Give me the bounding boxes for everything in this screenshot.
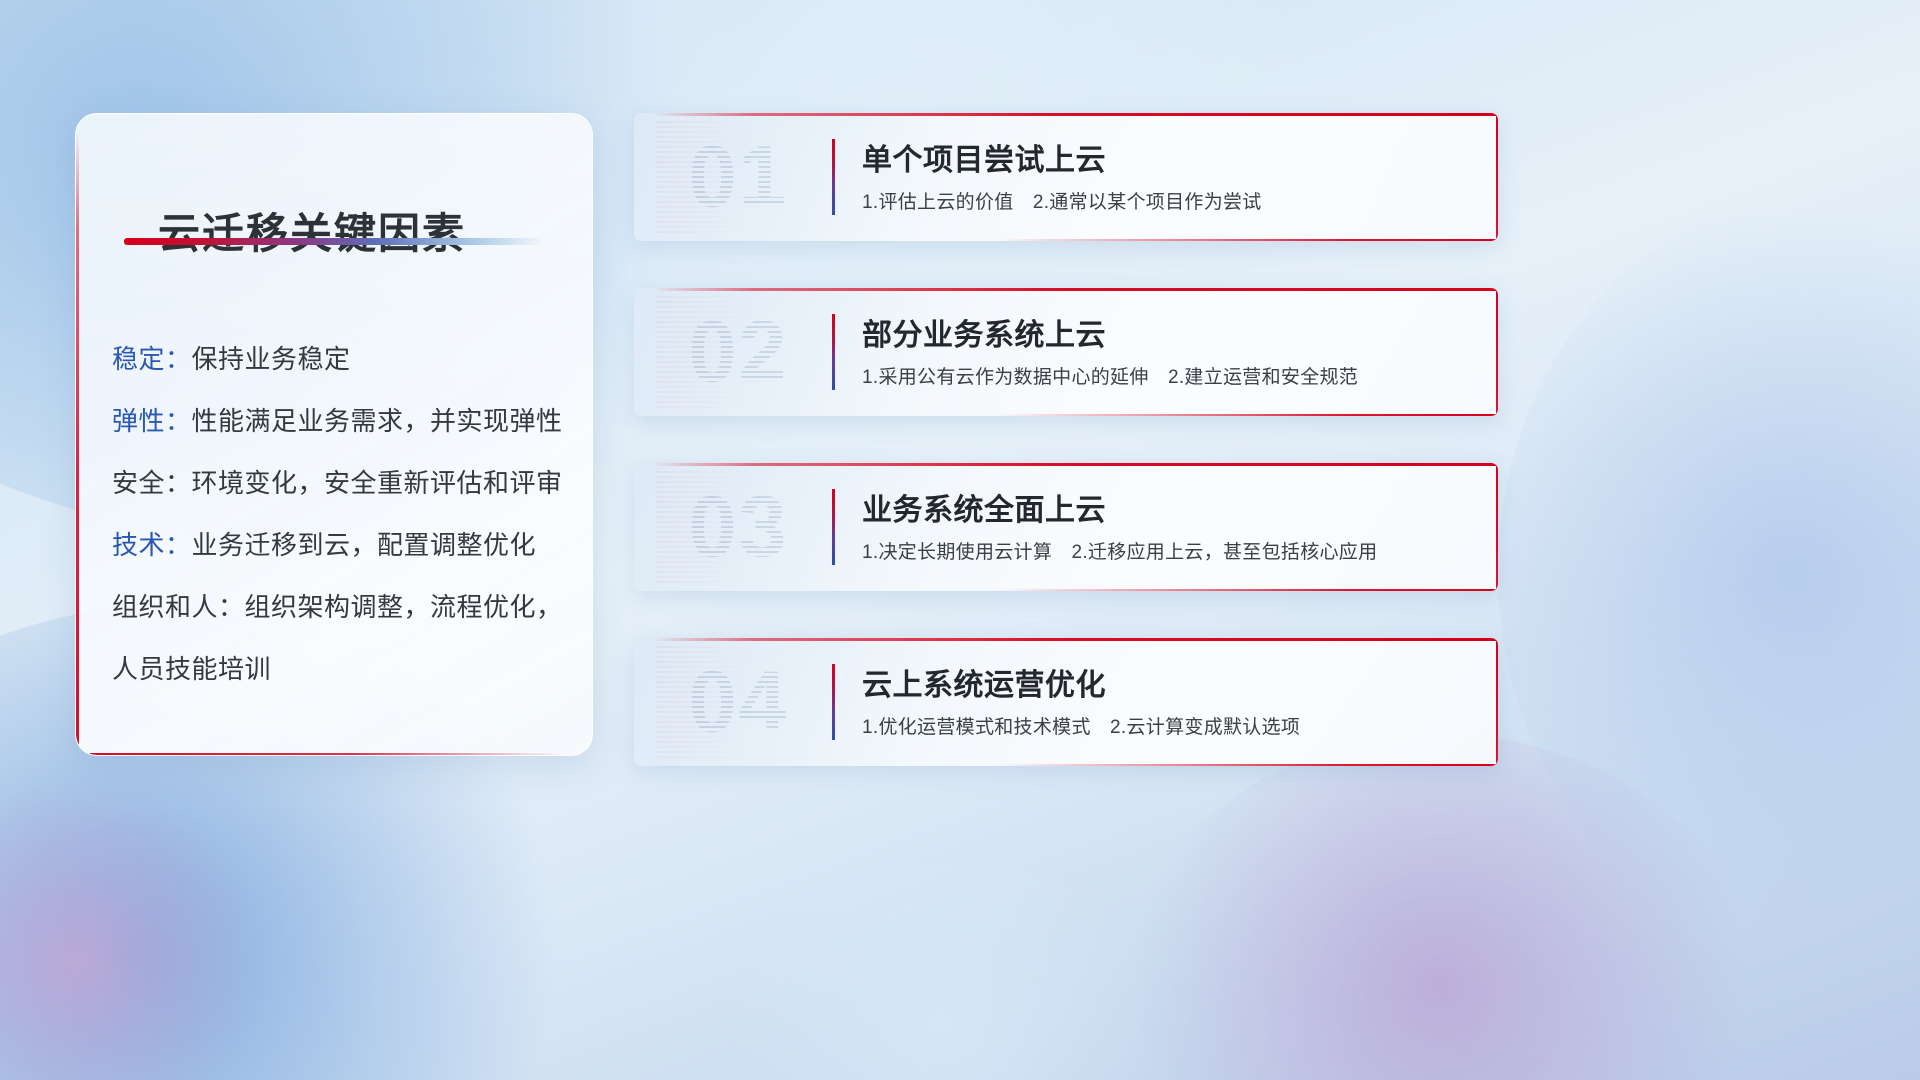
card-right-accent-border (1496, 463, 1499, 591)
key-factor-item: 技术：业务迁移到云，配置调整优化 (112, 514, 568, 576)
card-bottom-accent-border (997, 764, 1498, 767)
key-factor-label: 组织和人： (112, 592, 245, 622)
key-factor-item: 稳定：保持业务稳定 (112, 328, 568, 390)
card-bottom-accent-border (997, 239, 1498, 242)
key-factor-item: 组织和人：组织架构调整，流程优化， (112, 576, 568, 638)
stage-card[interactable]: 04云上系统运营优化1.优化运营模式和技术模式 2.云计算变成默认选项 (634, 638, 1498, 766)
stage-number: 01 (656, 121, 821, 233)
key-factor-text: 人员技能培训 (112, 654, 271, 684)
stage-divider-bar (832, 139, 835, 215)
card-bottom-accent-border (997, 589, 1498, 592)
stage-description: 1.优化运营模式和技术模式 2.云计算变成默认选项 (862, 712, 1300, 739)
stage-divider-bar (832, 489, 835, 565)
key-factor-label: 稳定： (112, 344, 192, 374)
card-right-accent-border (1496, 288, 1499, 416)
card-top-accent-border (652, 113, 1498, 116)
cloud-migration-stages: 01单个项目尝试上云1.评估上云的价值 2.通常以某个项目作为尝试02部分业务系… (634, 113, 1498, 813)
key-factor-text: 环境变化，安全重新评估和评审 (192, 468, 563, 498)
stage-number: 04 (656, 646, 821, 758)
key-factor-item: 弹性：性能满足业务需求，并实现弹性 (112, 390, 568, 452)
stage-description: 1.采用公有云作为数据中心的延伸 2.建立运营和安全规范 (862, 362, 1358, 389)
stage-title: 云上系统运营优化 (862, 660, 1106, 704)
stage-description: 1.评估上云的价值 2.通常以某个项目作为尝试 (862, 187, 1262, 214)
key-factor-item: 安全：环境变化，安全重新评估和评审 (112, 452, 568, 514)
title-underline-bar (124, 238, 544, 245)
card-bottom-accent-border (997, 414, 1498, 417)
key-factor-text: 业务迁移到云，配置调整优化 (192, 530, 537, 560)
key-factor-item: 人员技能培训 (112, 638, 568, 700)
key-factors-list: 稳定：保持业务稳定弹性：性能满足业务需求，并实现弹性安全：环境变化，安全重新评估… (112, 328, 568, 700)
key-factors-panel: 云迁移关键因素 稳定：保持业务稳定弹性：性能满足业务需求，并实现弹性安全：环境变… (75, 113, 593, 756)
stage-card[interactable]: 03业务系统全面上云1.决定长期使用云计算 2.迁移应用上云，甚至包括核心应用 (634, 463, 1498, 591)
key-factor-text: 保持业务稳定 (192, 344, 351, 374)
stage-description: 1.决定长期使用云计算 2.迁移应用上云，甚至包括核心应用 (862, 537, 1377, 564)
key-factor-text: 性能满足业务需求，并实现弹性 (192, 406, 563, 436)
card-right-accent-border (1496, 638, 1499, 766)
stage-divider-bar (832, 664, 835, 740)
stage-card[interactable]: 02部分业务系统上云1.采用公有云作为数据中心的延伸 2.建立运营和安全规范 (634, 288, 1498, 416)
stage-title: 部分业务系统上云 (862, 310, 1106, 354)
stage-card[interactable]: 01单个项目尝试上云1.评估上云的价值 2.通常以某个项目作为尝试 (634, 113, 1498, 241)
panel-left-accent-border (76, 130, 79, 753)
stage-number: 02 (656, 296, 821, 408)
card-top-accent-border (652, 288, 1498, 291)
stage-title: 单个项目尝试上云 (862, 135, 1106, 179)
card-top-accent-border (652, 463, 1498, 466)
stage-number: 03 (656, 471, 821, 583)
card-top-accent-border (652, 638, 1498, 641)
key-factor-text: 组织架构调整，流程优化， (245, 592, 563, 622)
panel-bottom-accent-border (90, 753, 564, 756)
page-title: 云迁移关键因素 (158, 200, 466, 261)
key-factor-label: 技术： (112, 530, 192, 560)
stage-title: 业务系统全面上云 (862, 485, 1106, 529)
card-right-accent-border (1496, 113, 1499, 241)
stage-divider-bar (832, 314, 835, 390)
key-factor-label: 安全： (112, 468, 192, 498)
key-factor-label: 弹性： (112, 406, 192, 436)
